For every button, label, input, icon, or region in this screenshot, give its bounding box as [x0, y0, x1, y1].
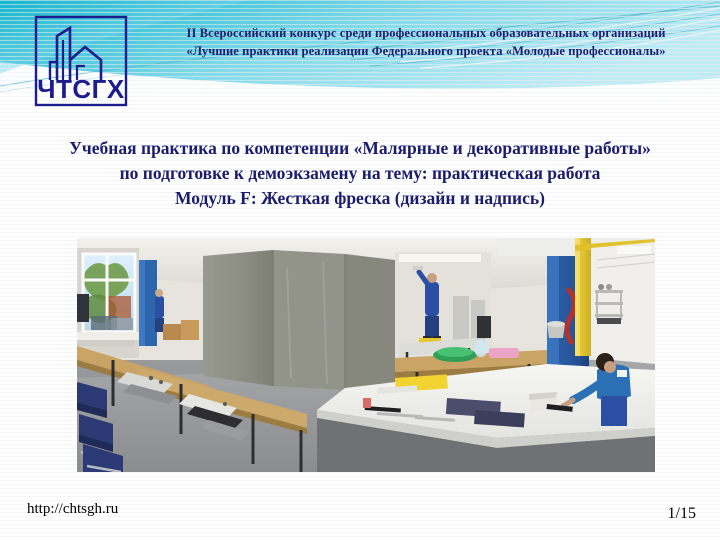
chtsgh-logo-icon: ЧТСГХ [33, 14, 129, 108]
banner-line-2: «Лучшие практики реализации Федерального… [136, 42, 716, 60]
svg-text:ЧТСГХ: ЧТСГХ [37, 74, 125, 104]
banner-heading: II Всероссийский конкурс среди профессио… [136, 24, 716, 60]
presentation-slide: ЧТСГХ II Всероссийский конкурс среди про… [0, 0, 720, 540]
title-line-1: Учебная практика по компетенции «Малярны… [24, 136, 696, 161]
banner-line-1: II Всероссийский конкурс среди профессио… [136, 24, 716, 42]
slide-title: Учебная практика по компетенции «Малярны… [24, 136, 696, 211]
title-line-3: Модуль F: Жесткая фреска (дизайн и надпи… [24, 186, 696, 211]
workshop-photo [77, 238, 655, 472]
footer-url[interactable]: http://chtsgh.ru [27, 500, 118, 518]
slide-page-number: 1/15 [668, 505, 696, 523]
title-line-2: по подготовке к демоэкзамену на тему: пр… [24, 161, 696, 186]
